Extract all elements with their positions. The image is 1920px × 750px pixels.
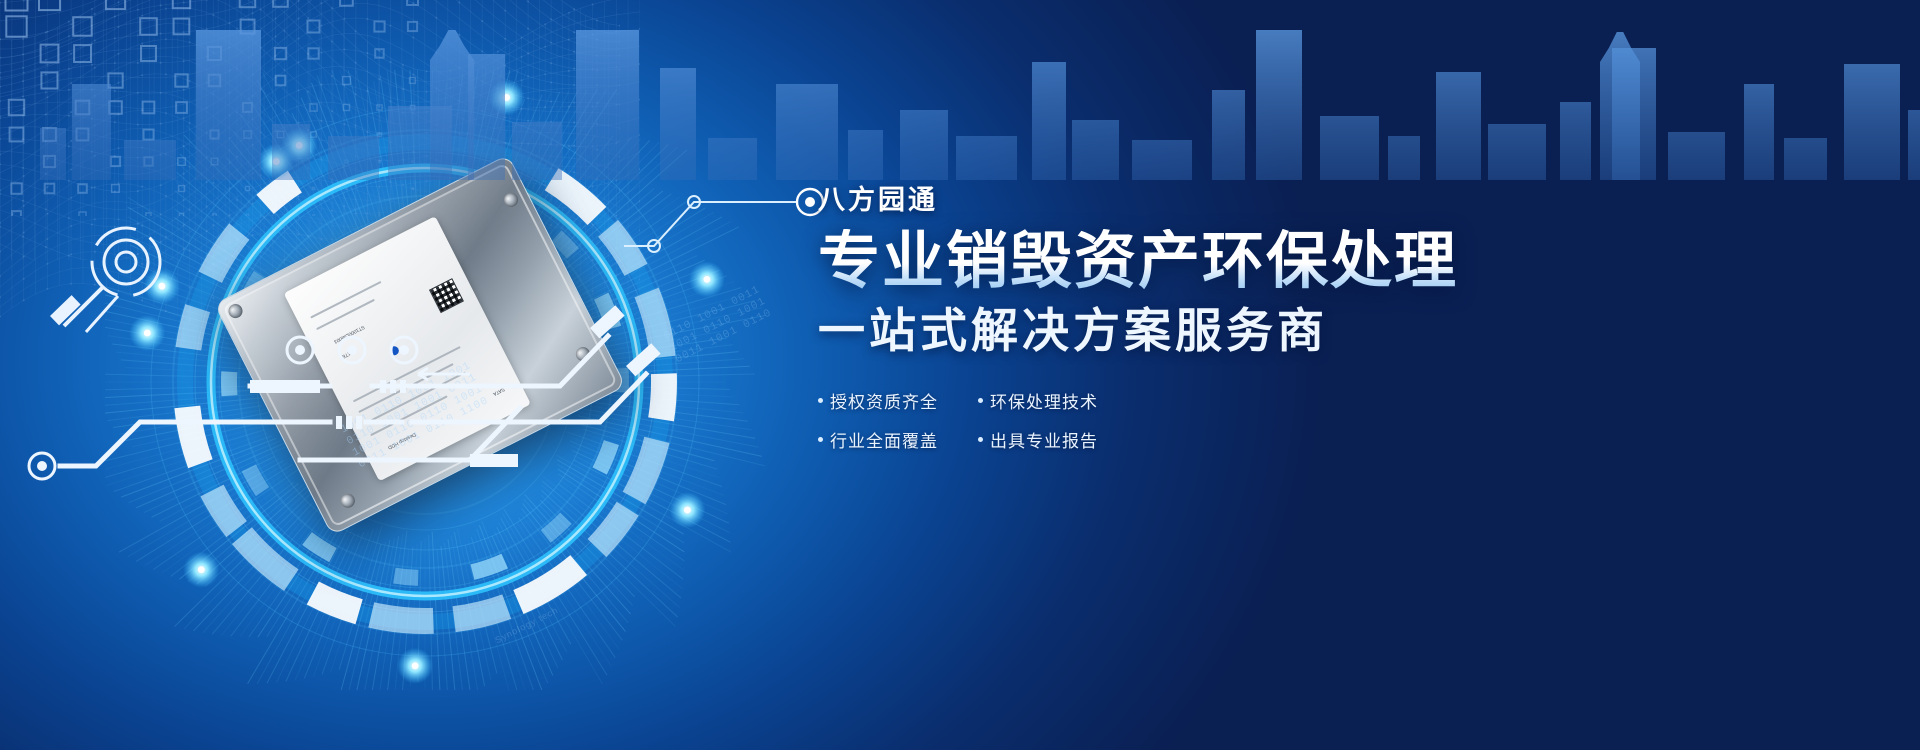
page-subtitle: 一站式解决方案服务商 [818,303,1578,358]
list-item: 行业全面覆盖 [818,427,958,452]
bullet-dot-icon [818,437,823,442]
hdd-label-model: ST1000DM003 [333,324,366,345]
brand-name: 八方园通 [818,178,1578,217]
bullet-dot-icon [818,398,823,403]
hdd-tech-ring-graphic: ST1000DM003 1TB Desktop HDD SATA 1001 01… [105,70,765,690]
feature-bullet-list: 授权资质齐全 环保处理技术 行业全面覆盖 出具专业报告 [818,388,1578,452]
bullet-label: 环保处理技术 [990,388,1098,413]
list-item: 出具专业报告 [978,427,1118,452]
hdd-qr-code [429,278,464,313]
bullet-label: 行业全面覆盖 [830,427,938,452]
list-item: 环保处理技术 [978,388,1118,413]
hero-copy: 八方园通 专业销毁资产环保处理 一站式解决方案服务商 授权资质齐全 环保处理技术… [818,178,1578,452]
hdd-label-interface: SATA [491,386,505,397]
bullet-dot-icon [978,437,983,442]
hdd-label-capacity: 1TB [341,350,352,360]
page-title: 专业销毁资产环保处理 [818,229,1578,295]
bullet-dot-icon [978,398,983,403]
hero-banner: ST1000DM003 1TB Desktop HDD SATA 1001 01… [0,0,1920,750]
bullet-label: 授权资质齐全 [830,388,938,413]
bullet-label: 出具专业报告 [990,427,1098,452]
list-item: 授权资质齐全 [818,388,958,413]
